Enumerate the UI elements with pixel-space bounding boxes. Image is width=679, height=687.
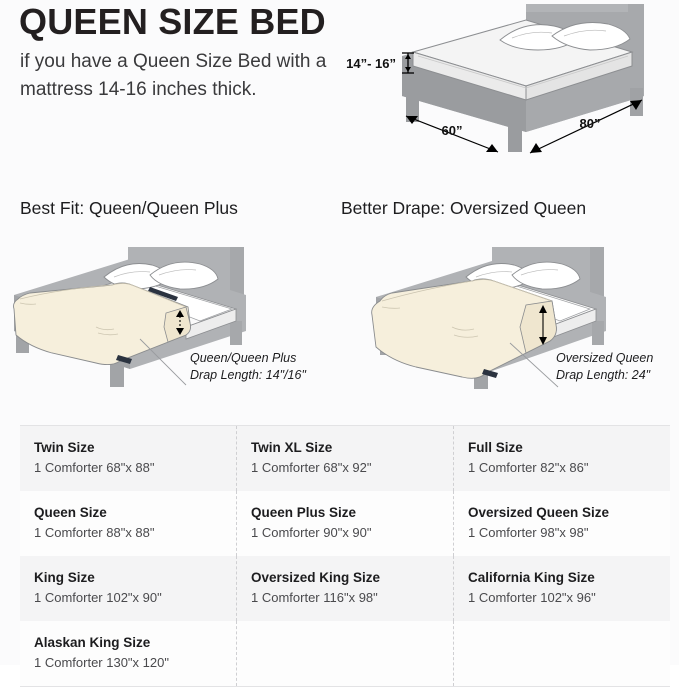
size-name: Twin XL Size xyxy=(251,439,453,457)
size-detail: 1 Comforter 102"x 90" xyxy=(34,589,236,608)
size-detail: 1 Comforter 68"x 88" xyxy=(34,459,236,478)
table-cell: Full Size 1 Comforter 82"x 86" xyxy=(454,426,670,491)
page-subtitle: if you have a Queen Size Bed with a matt… xyxy=(20,48,330,103)
size-detail: 1 Comforter 90"x 90" xyxy=(251,524,453,543)
size-detail: 1 Comforter 82"x 86" xyxy=(468,459,670,478)
hero-length-label: 80” xyxy=(580,116,601,131)
callout-best-fit-line1: Queen/Queen Plus xyxy=(190,350,306,367)
table-cell: Oversized King Size 1 Comforter 116"x 98… xyxy=(237,556,454,621)
callout-best-fit-line2: Drap Length: 14"/16" xyxy=(190,367,306,384)
better-drape-bed-illustration xyxy=(340,235,679,420)
hero-height-label: 14”- 16” xyxy=(346,56,396,71)
page-title: QUEEN SIZE BED xyxy=(19,2,326,42)
size-detail: 1 Comforter 130"x 120" xyxy=(34,654,236,673)
size-detail: 1 Comforter 88"x 88" xyxy=(34,524,236,543)
size-name: Full Size xyxy=(468,439,670,457)
size-name: California King Size xyxy=(468,569,670,587)
table-row: Alaskan King Size 1 Comforter 130"x 120" xyxy=(20,621,670,686)
table-row: Queen Size 1 Comforter 88"x 88" Queen Pl… xyxy=(20,491,670,556)
table-cell-empty xyxy=(237,621,454,686)
size-detail: 1 Comforter 98"x 98" xyxy=(468,524,670,543)
callout-better-drape: Oversized Queen Drap Length: 24" xyxy=(556,350,653,384)
callout-best-fit: Queen/Queen Plus Drap Length: 14"/16" xyxy=(190,350,306,384)
size-name: Oversized King Size xyxy=(251,569,453,587)
size-name: Queen Plus Size xyxy=(251,504,453,522)
size-detail: 1 Comforter 102"x 96" xyxy=(468,589,670,608)
size-name: Queen Size xyxy=(34,504,236,522)
callout-better-drape-line1: Oversized Queen xyxy=(556,350,653,367)
section-heading-best-fit: Best Fit: Queen/Queen Plus xyxy=(20,198,238,219)
table-cell: Queen Plus Size 1 Comforter 90"x 90" xyxy=(237,491,454,556)
size-name: Alaskan King Size xyxy=(34,634,236,652)
size-name: Twin Size xyxy=(34,439,236,457)
best-fit-bed-illustration xyxy=(0,235,340,420)
table-row: Twin Size 1 Comforter 68"x 88" Twin XL S… xyxy=(20,426,670,491)
table-cell: Twin Size 1 Comforter 68"x 88" xyxy=(20,426,237,491)
table-cell-empty xyxy=(454,621,670,686)
comforter-size-table: Twin Size 1 Comforter 68"x 88" Twin XL S… xyxy=(20,425,670,687)
table-cell: Queen Size 1 Comforter 88"x 88" xyxy=(20,491,237,556)
infographic-page: QUEEN SIZE BED if you have a Queen Size … xyxy=(0,0,679,665)
table-cell: King Size 1 Comforter 102"x 90" xyxy=(20,556,237,621)
size-name: Oversized Queen Size xyxy=(468,504,670,522)
hero-bed-diagram: 14”- 16” 60” 80” xyxy=(340,0,679,180)
size-name: King Size xyxy=(34,569,236,587)
table-cell: California King Size 1 Comforter 102"x 9… xyxy=(454,556,670,621)
section-heading-better-drape: Better Drape: Oversized Queen xyxy=(341,198,586,219)
table-row: King Size 1 Comforter 102"x 90" Oversize… xyxy=(20,556,670,621)
size-detail: 1 Comforter 68"x 92" xyxy=(251,459,453,478)
hero-width-label: 60” xyxy=(442,123,463,138)
table-cell: Oversized Queen Size 1 Comforter 98"x 98… xyxy=(454,491,670,556)
callout-better-drape-line2: Drap Length: 24" xyxy=(556,367,653,384)
table-cell: Alaskan King Size 1 Comforter 130"x 120" xyxy=(20,621,237,686)
size-detail: 1 Comforter 116"x 98" xyxy=(251,589,453,608)
table-cell: Twin XL Size 1 Comforter 68"x 92" xyxy=(237,426,454,491)
